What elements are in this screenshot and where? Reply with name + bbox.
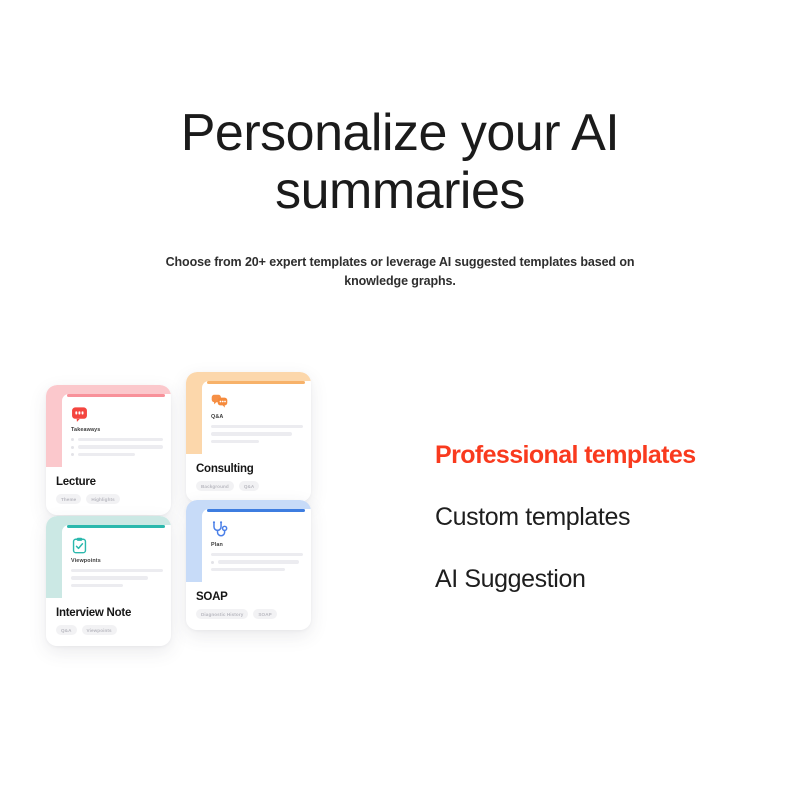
- skeleton-bar: [71, 569, 163, 572]
- skeleton-bar: [211, 432, 292, 435]
- page-subtitle: Choose from 20+ expert templates or leve…: [140, 253, 660, 291]
- skeleton-bar: [71, 584, 123, 587]
- card-preview: Takeaways: [46, 385, 171, 467]
- card-section-label: Plan: [211, 542, 223, 548]
- skeleton-line: [211, 440, 303, 443]
- card-tag[interactable]: Highlights: [86, 494, 119, 504]
- card-preview-sheet: Q&A: [202, 381, 311, 454]
- template-card-soap[interactable]: Plan SOAP Diagnostic HistorySOAP: [186, 500, 311, 630]
- card-section-label: Viewpoints: [71, 558, 101, 564]
- card-preview-sheet: Viewpoints: [62, 525, 171, 598]
- card-tag[interactable]: Viewpoints: [82, 625, 117, 635]
- card-footer: Consulting BackgroundQ&A: [186, 454, 311, 502]
- header: Personalize your AI summaries Choose fro…: [0, 104, 800, 291]
- skeleton-line: [211, 553, 303, 556]
- template-category-item[interactable]: Custom templates: [435, 502, 765, 532]
- template-card-cluster: Takeaways Lecture ThemeHighlights Q&A Co: [40, 368, 330, 653]
- skeleton-bar: [71, 576, 148, 579]
- card-section-label: Q&A: [211, 414, 223, 420]
- card-accent-bar: [207, 381, 305, 384]
- card-footer: SOAP Diagnostic HistorySOAP: [186, 582, 311, 630]
- bullet-dot: [71, 446, 74, 449]
- card-title: Interview Note: [56, 607, 161, 619]
- promo-slide: Personalize your AI summaries Choose fro…: [0, 0, 800, 800]
- card-tag[interactable]: SOAP: [253, 609, 276, 619]
- skeleton-bar: [78, 445, 163, 448]
- card-footer: Lecture ThemeHighlights: [46, 467, 171, 515]
- skeleton-bar: [211, 568, 285, 571]
- skeleton-line: [211, 560, 303, 563]
- skeleton-bar: [211, 425, 303, 428]
- card-preview: Plan: [186, 500, 311, 582]
- card-footer: Interview Note Q&AViewpoints: [46, 598, 171, 646]
- card-tag[interactable]: Theme: [56, 494, 81, 504]
- card-title: Consulting: [196, 463, 301, 475]
- bullet-dot: [211, 561, 214, 564]
- card-tag-list: ThemeHighlights: [56, 494, 161, 504]
- skeleton-line: [71, 453, 163, 456]
- card-preview: Q&A: [186, 372, 311, 454]
- card-tag[interactable]: Background: [196, 481, 234, 491]
- card-skeleton-lines: [71, 438, 163, 460]
- card-tag[interactable]: Diagnostic History: [196, 609, 248, 619]
- skeleton-line: [71, 569, 163, 572]
- chat-bubbles-icon: [211, 393, 228, 410]
- card-skeleton-lines: [211, 425, 303, 447]
- skeleton-line: [211, 568, 303, 571]
- card-skeleton-lines: [71, 569, 163, 591]
- card-preview: Viewpoints: [46, 516, 171, 598]
- card-tag[interactable]: Q&A: [239, 481, 260, 491]
- bullet-dot: [71, 453, 74, 456]
- template-category-list: Professional templatesCustom templatesAI…: [435, 440, 765, 626]
- skeleton-bar: [218, 560, 299, 563]
- speech-bubble-quote-icon: [71, 406, 88, 423]
- card-accent-bar: [67, 525, 165, 528]
- skeleton-line: [211, 432, 303, 435]
- bullet-dot: [71, 438, 74, 441]
- skeleton-line: [71, 445, 163, 448]
- template-card-consulting[interactable]: Q&A Consulting BackgroundQ&A: [186, 372, 311, 502]
- clipboard-check-icon: [71, 537, 88, 554]
- card-skeleton-lines: [211, 553, 303, 575]
- skeleton-line: [71, 576, 163, 579]
- template-card-interview[interactable]: Viewpoints Interview Note Q&AViewpoints: [46, 516, 171, 646]
- card-tag-list: Diagnostic HistorySOAP: [196, 609, 301, 619]
- card-tag-list: Q&AViewpoints: [56, 625, 161, 635]
- template-category-item[interactable]: AI Suggestion: [435, 564, 765, 594]
- skeleton-line: [211, 425, 303, 428]
- template-category-item[interactable]: Professional templates: [435, 440, 765, 470]
- card-accent-bar: [207, 509, 305, 512]
- card-preview-sheet: Takeaways: [62, 394, 171, 467]
- skeleton-bar: [211, 440, 259, 443]
- card-tag[interactable]: Q&A: [56, 625, 77, 635]
- page-title: Personalize your AI summaries: [130, 104, 670, 220]
- skeleton-line: [71, 438, 163, 441]
- card-title: SOAP: [196, 591, 301, 603]
- card-title: Lecture: [56, 476, 161, 488]
- skeleton-bar: [78, 453, 135, 456]
- skeleton-bar: [211, 553, 303, 556]
- card-accent-bar: [67, 394, 165, 397]
- card-preview-sheet: Plan: [202, 509, 311, 582]
- skeleton-bar: [78, 438, 163, 441]
- skeleton-line: [71, 584, 163, 587]
- card-tag-list: BackgroundQ&A: [196, 481, 301, 491]
- card-section-label: Takeaways: [71, 427, 100, 433]
- stethoscope-icon: [211, 521, 228, 538]
- template-card-lecture[interactable]: Takeaways Lecture ThemeHighlights: [46, 385, 171, 515]
